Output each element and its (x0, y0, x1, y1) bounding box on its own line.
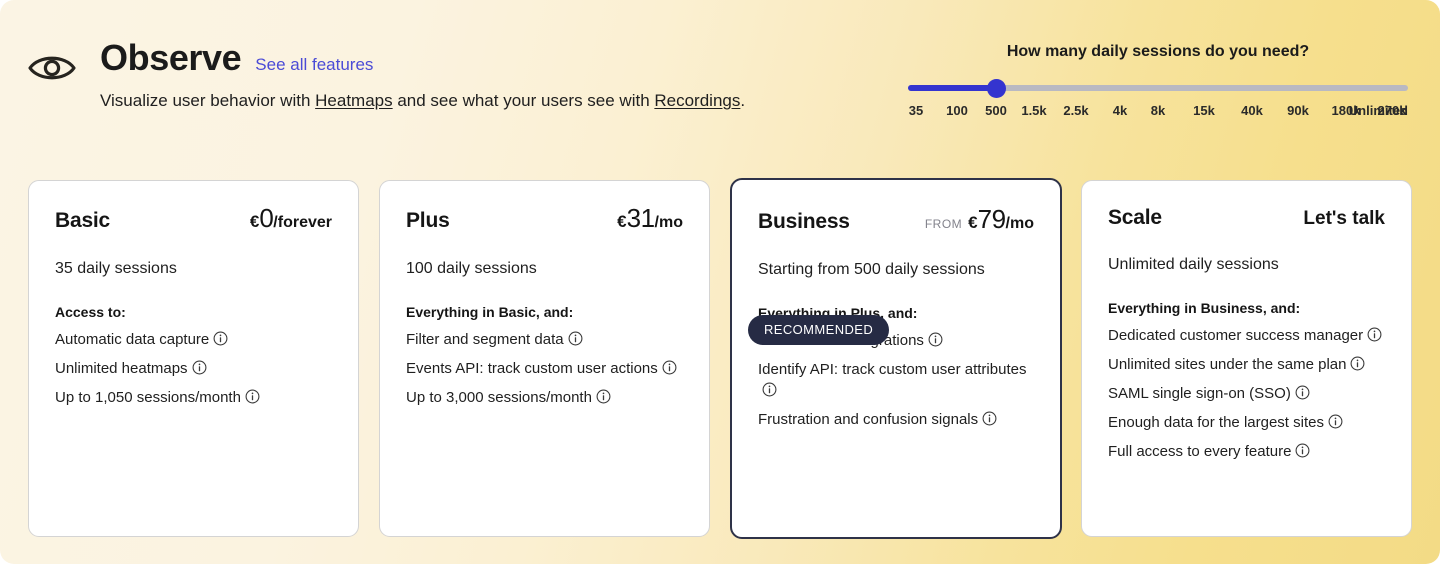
info-icon[interactable] (928, 332, 943, 353)
info-icon[interactable] (1295, 443, 1310, 464)
plan-card-scale[interactable]: Scale Let's talk Unlimited daily session… (1081, 180, 1412, 537)
plan-sessions: 100 daily sessions (406, 258, 683, 280)
slider-tick-0[interactable]: 35 (909, 103, 923, 119)
plan-name: Business (758, 209, 850, 235)
feature-text: Enough data for the largest sites (1108, 414, 1324, 431)
slider-tick-6[interactable]: 8k (1151, 103, 1165, 119)
slider-thumb[interactable] (987, 79, 1006, 98)
plan-feature: Events API: track custom user actions (406, 358, 683, 381)
feature-text: Events API: track custom user actions (406, 360, 658, 377)
plan-card-business[interactable]: Business FROM€79/mo Starting from 500 da… (730, 178, 1062, 539)
info-icon[interactable] (568, 331, 583, 352)
feature-text: Filter and segment data (406, 331, 564, 348)
price-amount: 0 (259, 205, 273, 231)
slider-tick-9[interactable]: 90k (1287, 103, 1309, 119)
slider-tick-8[interactable]: 40k (1241, 103, 1263, 119)
price-currency: € (250, 209, 259, 235)
info-icon[interactable] (596, 389, 611, 410)
plan-feature: Enough data for the largest sites (1108, 412, 1385, 435)
card-header: Basic €0/forever (55, 205, 332, 236)
feature-text: Full access to every feature (1108, 443, 1291, 460)
info-icon[interactable] (213, 331, 228, 352)
pricing-panel: Observe See all features Visualize user … (0, 0, 1440, 564)
plan-price: FROM€79/mo (925, 206, 1034, 237)
info-icon[interactable] (762, 382, 777, 403)
plan-feature: Frustration and confusion signals (758, 409, 1034, 432)
plan-feature: Automatic data capture (55, 329, 332, 352)
plan-everything-label: Access to: (55, 302, 332, 322)
plan-cards: RECOMMENDED Basic €0/forever 35 daily se… (0, 150, 1440, 564)
plan-everything-label: Everything in Business, and: (1108, 298, 1385, 318)
price-amount: 79 (978, 206, 1006, 232)
see-all-features-link[interactable]: See all features (255, 55, 373, 75)
info-icon[interactable] (1295, 385, 1310, 406)
info-icon[interactable] (192, 360, 207, 381)
plan-feature: Up to 1,050 sessions/month (55, 387, 332, 410)
plan-price: €31/mo (617, 205, 683, 236)
slider-question-label: How many daily sessions do you need? (908, 42, 1408, 62)
slider-tick-labels: 351005001.5k2.5k4k8k15k40k90k180k270kUnl… (908, 103, 1408, 121)
feature-text: Identify API: track custom user attribut… (758, 361, 1026, 378)
price-currency: € (968, 210, 977, 236)
plan-price: €0/forever (250, 205, 332, 236)
price-amount: 31 (627, 205, 655, 231)
info-icon[interactable] (245, 389, 260, 410)
slider-tick-1[interactable]: 100 (946, 103, 968, 119)
info-icon[interactable] (982, 411, 997, 432)
feature-text: SAML single sign-on (SSO) (1108, 385, 1291, 402)
feature-text: Dedicated customer success manager (1108, 327, 1363, 344)
subtitle-text-3: . (740, 91, 745, 110)
card-header: Scale Let's talk (1108, 205, 1385, 232)
feature-text: Up to 1,050 sessions/month (55, 389, 241, 406)
plan-feature: Unlimited sites under the same plan (1108, 354, 1385, 377)
plan-everything-label: Everything in Basic, and: (406, 302, 683, 322)
title-row: Observe See all features (100, 38, 373, 78)
plan-feature: Dedicated customer success manager (1108, 325, 1385, 348)
subtitle-text-2: and see what your users see with (393, 91, 655, 110)
sessions-slider[interactable] (908, 79, 1408, 97)
plan-name: Plus (406, 208, 450, 234)
card-header: Business FROM€79/mo (758, 206, 1034, 237)
feature-text: Unlimited sites under the same plan (1108, 356, 1346, 373)
plan-card-basic[interactable]: Basic €0/forever 35 daily sessions Acces… (28, 180, 359, 537)
feature-text: Automatic data capture (55, 331, 209, 348)
price-currency: € (617, 209, 626, 235)
page-title: Observe (100, 38, 241, 78)
plan-feature: Full access to every feature (1108, 441, 1385, 464)
page-subtitle: Visualize user behavior with Heatmaps an… (100, 89, 745, 113)
price-from-label: FROM (925, 211, 962, 237)
plan-price: Let's talk (1303, 206, 1385, 232)
eye-icon (27, 48, 77, 88)
plan-sessions: Starting from 500 daily sessions (758, 259, 1034, 281)
plan-feature: SAML single sign-on (SSO) (1108, 383, 1385, 406)
plan-name: Scale (1108, 205, 1162, 231)
slider-tick-7[interactable]: 15k (1193, 103, 1215, 119)
plan-feature: Identify API: track custom user attribut… (758, 359, 1034, 403)
feature-text: Up to 3,000 sessions/month (406, 389, 592, 406)
slider-tick-4[interactable]: 2.5k (1063, 103, 1088, 119)
price-period: /forever (273, 210, 332, 236)
plan-feature: Unlimited heatmaps (55, 358, 332, 381)
subtitle-text-1: Visualize user behavior with (100, 91, 315, 110)
plan-sessions: 35 daily sessions (55, 258, 332, 280)
feature-text: Unlimited heatmaps (55, 360, 188, 377)
info-icon[interactable] (662, 360, 677, 381)
card-header: Plus €31/mo (406, 205, 683, 236)
panel-header: Observe See all features Visualize user … (0, 0, 1440, 150)
plan-sessions: Unlimited daily sessions (1108, 254, 1385, 276)
recordings-link[interactable]: Recordings (654, 91, 740, 110)
plan-feature: Up to 3,000 sessions/month (406, 387, 683, 410)
sessions-slider-block: How many daily sessions do you need? 351… (908, 42, 1408, 121)
info-icon[interactable] (1328, 414, 1343, 435)
plan-name: Basic (55, 208, 110, 234)
slider-tick-5[interactable]: 4k (1113, 103, 1127, 119)
slider-track[interactable] (908, 85, 1408, 91)
info-icon[interactable] (1367, 327, 1382, 348)
slider-tick-12[interactable]: Unlimited (1349, 103, 1408, 119)
slider-tick-3[interactable]: 1.5k (1021, 103, 1046, 119)
price-period: /mo (655, 210, 683, 236)
plan-card-plus[interactable]: Plus €31/mo 100 daily sessions Everythin… (379, 180, 710, 537)
feature-text: Frustration and confusion signals (758, 411, 978, 428)
plan-feature: Filter and segment data (406, 329, 683, 352)
price-period: /mo (1006, 211, 1034, 237)
recommended-badge: RECOMMENDED (748, 315, 889, 345)
info-icon[interactable] (1350, 356, 1365, 377)
heatmaps-link[interactable]: Heatmaps (315, 91, 392, 110)
slider-tick-2[interactable]: 500 (985, 103, 1007, 119)
